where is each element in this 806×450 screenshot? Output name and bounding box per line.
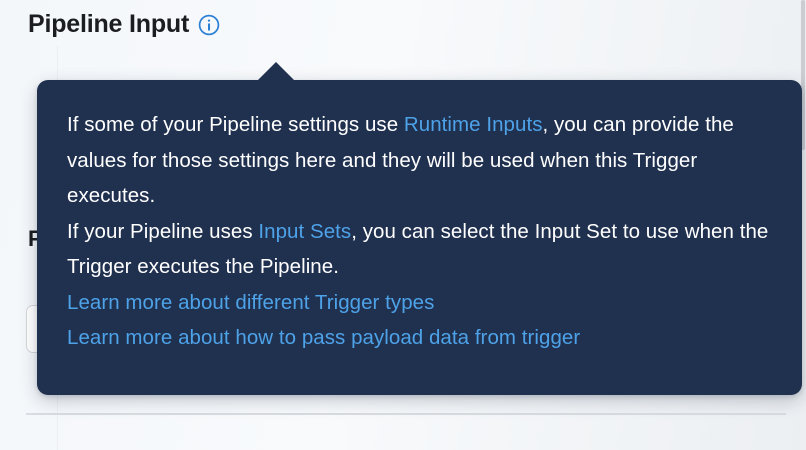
learn-more-payload-data-link[interactable]: Learn more about how to pass payload dat…	[67, 320, 772, 356]
tooltip-p2-text-before: If your Pipeline uses	[67, 220, 258, 243]
info-circle-icon[interactable]	[198, 14, 220, 36]
pipeline-input-tooltip: If some of your Pipeline settings use Ru…	[37, 80, 802, 395]
tooltip-paragraph-runtime-inputs: If some of your Pipeline settings use Ru…	[67, 107, 772, 214]
input-sets-link[interactable]: Input Sets	[258, 220, 351, 243]
bottom-divider	[26, 413, 786, 415]
tooltip-p1-text-before: If some of your Pipeline settings use	[67, 113, 404, 136]
page-title: Pipeline Input	[28, 10, 189, 39]
tooltip-arrow	[257, 62, 295, 81]
page-title-row: Pipeline Input	[28, 10, 220, 39]
tooltip-paragraph-input-sets: If your Pipeline uses Input Sets, you ca…	[67, 214, 772, 285]
learn-more-trigger-types-link[interactable]: Learn more about different Trigger types	[67, 285, 772, 321]
runtime-inputs-link[interactable]: Runtime Inputs	[404, 113, 543, 136]
